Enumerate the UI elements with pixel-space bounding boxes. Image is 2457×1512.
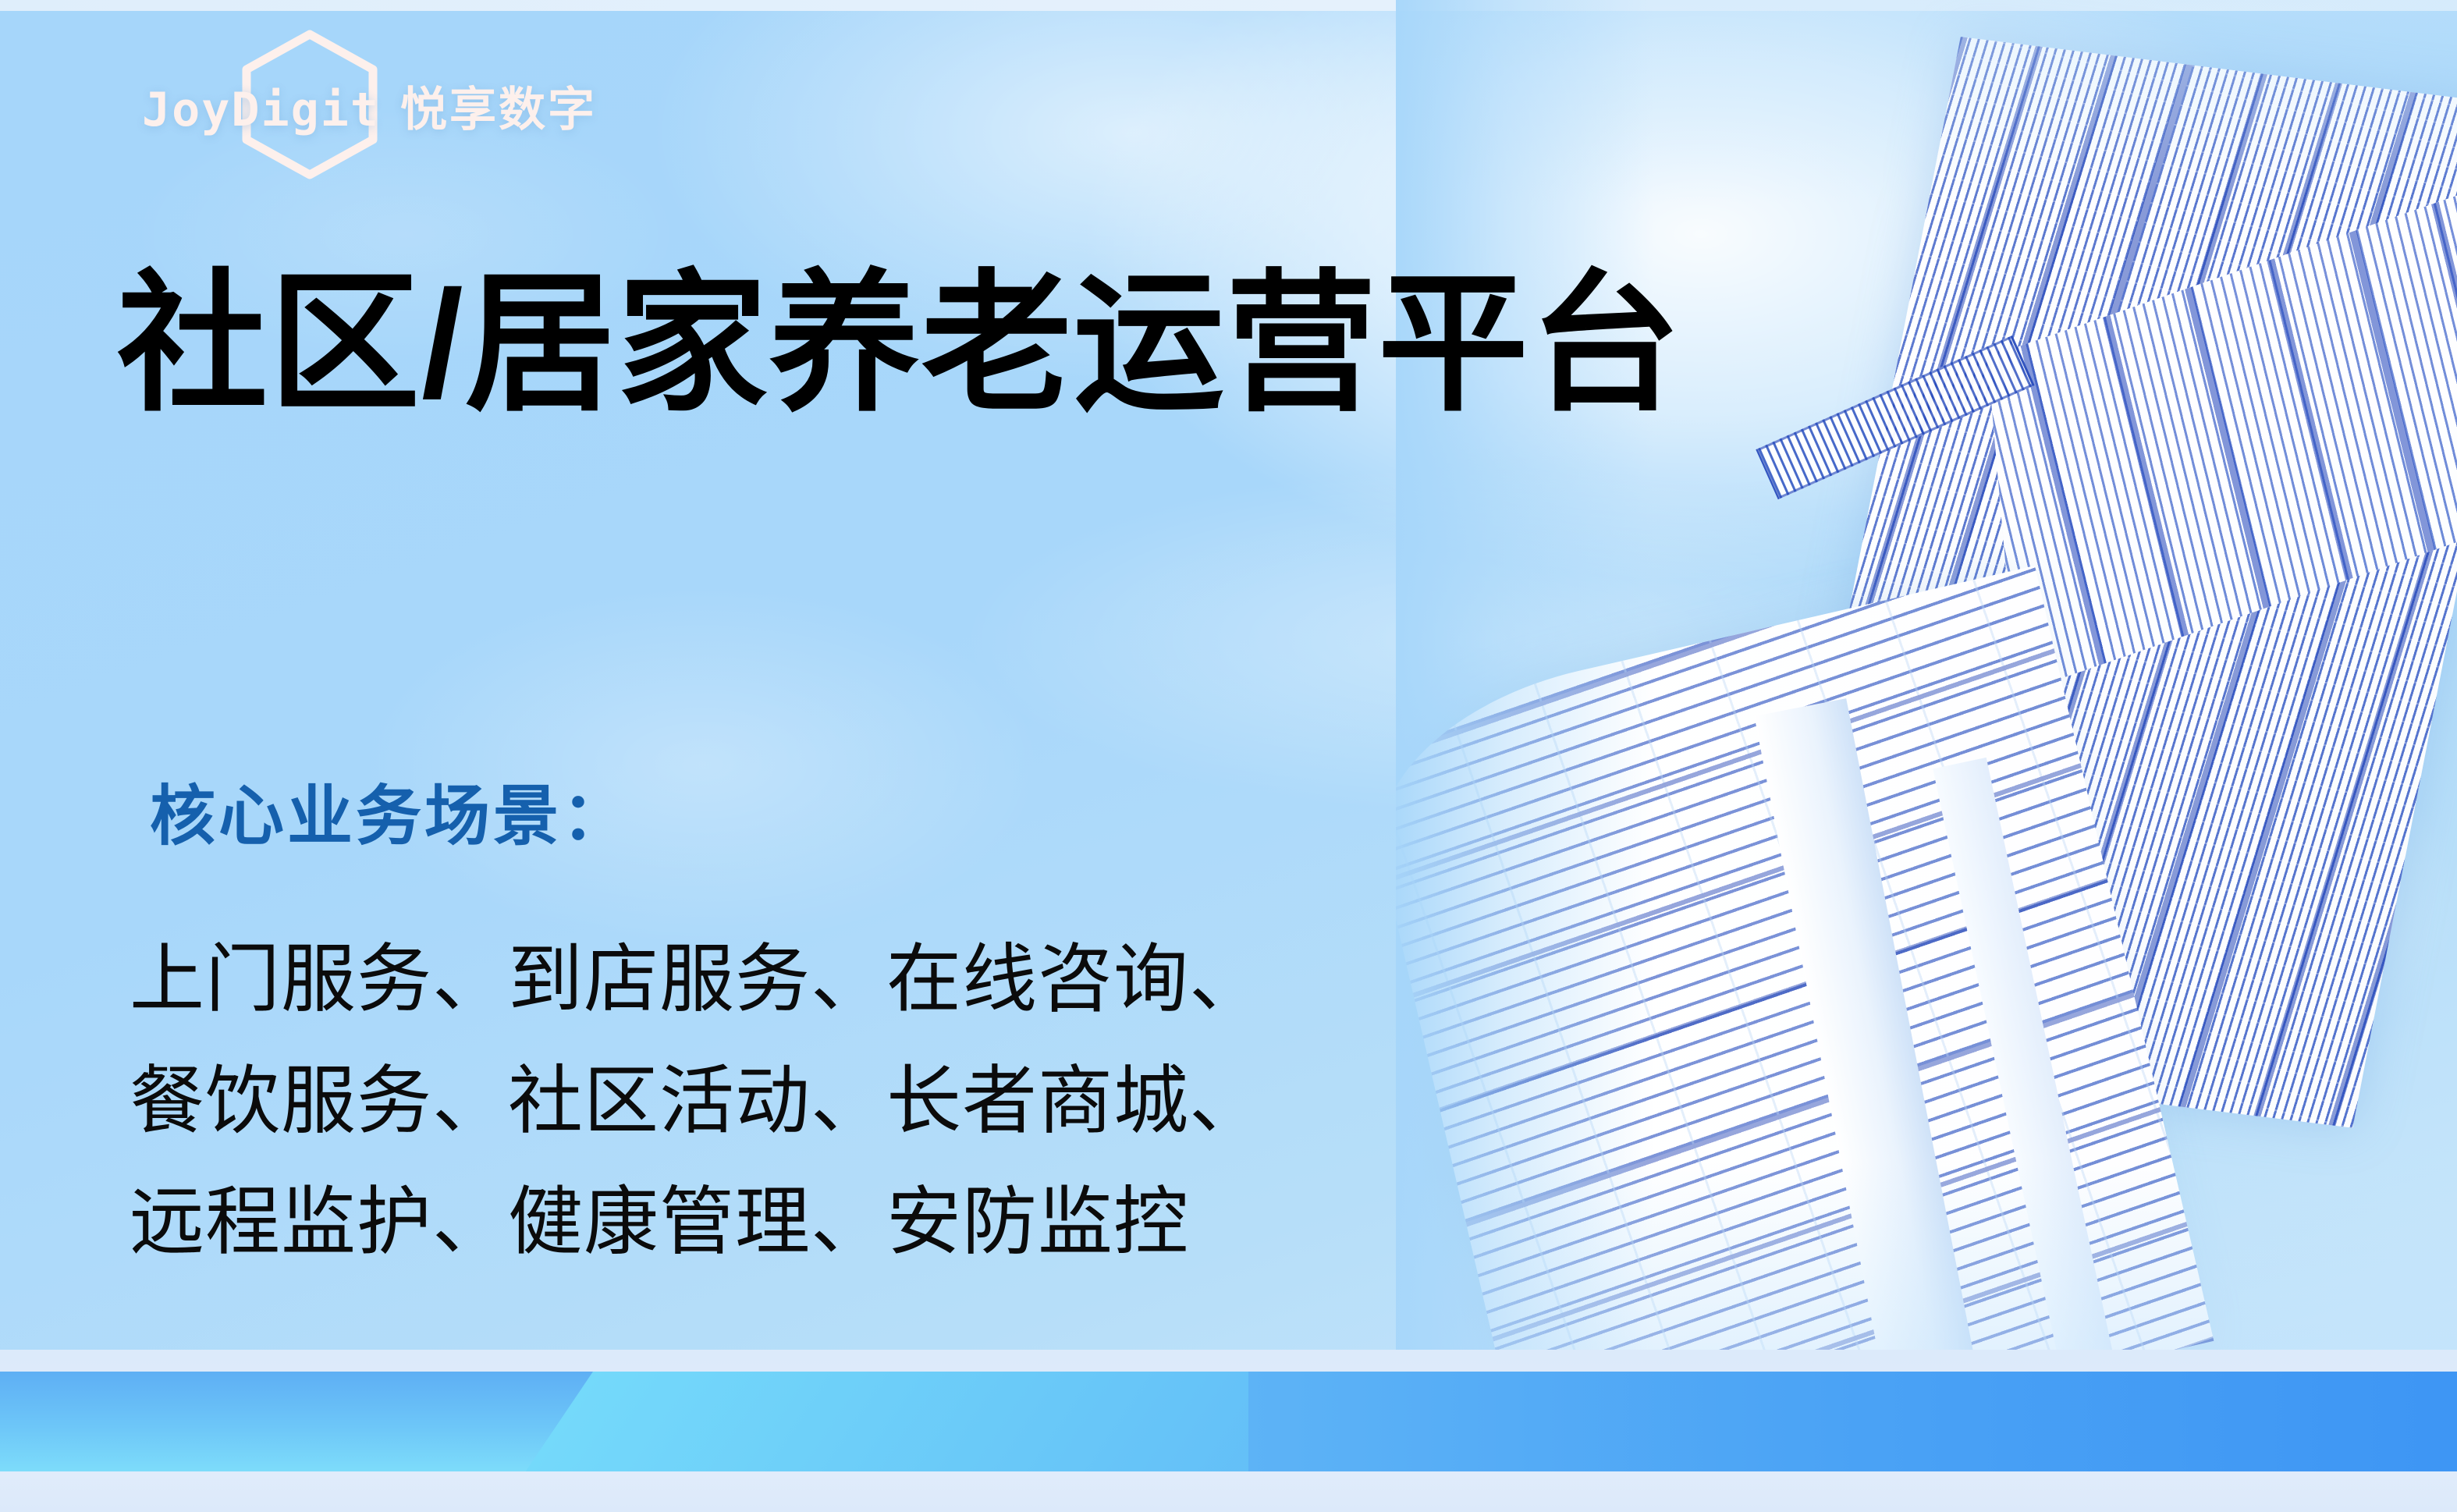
brand-logo-text: JoyDigit 悦享数字: [142, 72, 597, 140]
photo-haze-overlay: [1396, 0, 2457, 1397]
brand-logo-cn: 悦享数字: [400, 72, 597, 140]
section-label: 核心业务场景：: [150, 780, 630, 852]
brand-logo: JoyDigit 悦享数字: [142, 72, 597, 139]
slide-canvas: JoyDigit 悦享数字 社区/居家养老运营平台 核心业务场景： 上门服务、到…: [0, 0, 2457, 1512]
scenario-line: 远程监护、健康管理、安防监控: [130, 1162, 1265, 1283]
brand-logo-en: JoyDigit: [142, 83, 380, 137]
scenario-line: 上门服务、到店服务、在线咨询、: [130, 919, 1265, 1041]
scenario-list: 上门服务、到店服务、在线咨询、 餐饮服务、社区活动、长者商城、 远程监护、健康管…: [130, 919, 1265, 1283]
bottom-banner: [0, 1350, 2457, 1512]
building-photo: [1396, 0, 2457, 1397]
banner-bottom-strip: [0, 1471, 2457, 1512]
banner-band-left: [0, 1372, 627, 1471]
scenario-line: 餐饮服务、社区活动、长者商城、: [130, 1041, 1265, 1162]
page-title: 社区/居家养老运营平台: [117, 268, 1682, 421]
banner-band-right-cap: [1248, 1372, 2457, 1471]
